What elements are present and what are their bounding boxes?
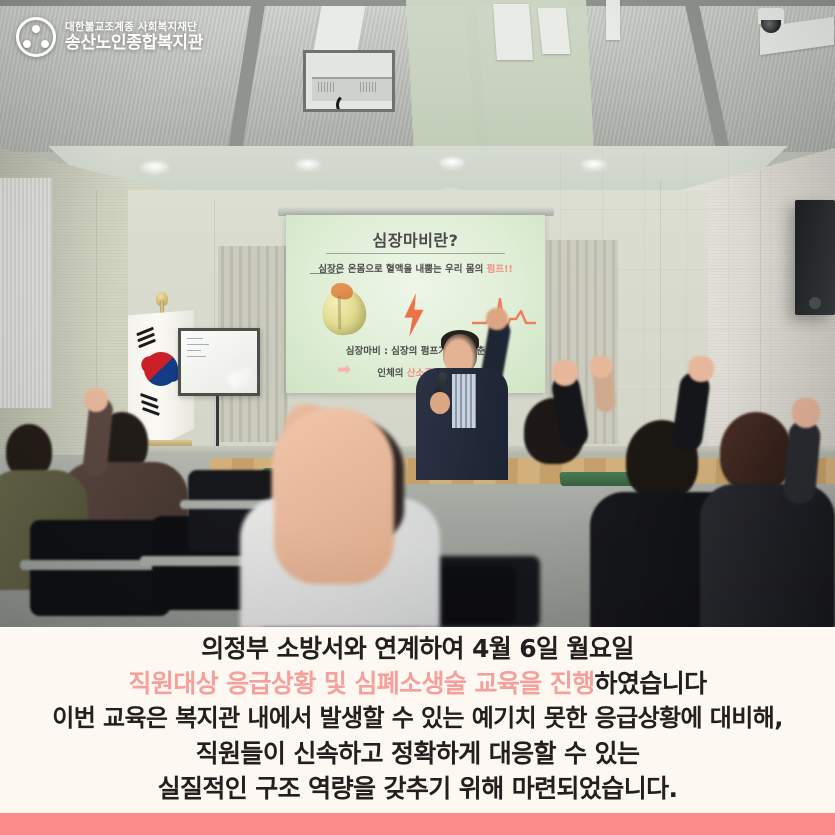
projector-vent-left xyxy=(318,82,336,92)
logo-center-name: 송산노인종합복지관 xyxy=(65,35,203,52)
slide-surface: 심장마비란? 심장은 온몸으로 혈액을 내뿜는 우리 몸의 펌프!! 심장마비 … xyxy=(286,215,545,393)
wall-speaker xyxy=(795,200,835,315)
presenter-shirt xyxy=(452,374,476,428)
bag-on-chair xyxy=(430,566,516,624)
bottom-accent-bar xyxy=(0,813,835,835)
projector-vent-right xyxy=(360,82,378,92)
logo-dot-left xyxy=(23,40,31,48)
ceiling-panel-3 xyxy=(538,8,571,54)
logo-dot-top xyxy=(32,25,40,33)
three-dot-circle-icon xyxy=(16,17,56,57)
audience-fist-1 xyxy=(84,388,108,412)
wall-seam-3 xyxy=(660,180,661,460)
logo-foundation-name: 대한불교조계종 사회복지재단 xyxy=(65,22,203,33)
slide-body-line2-plain: 인체의 xyxy=(377,368,407,379)
dome-security-camera xyxy=(758,8,784,24)
logo-dot-right xyxy=(41,40,49,48)
slide-subtitle-highlight: 펌프!! xyxy=(487,264,513,275)
presenter-hand xyxy=(430,392,450,414)
audience-fist-4 xyxy=(688,356,714,382)
whiteboard xyxy=(178,328,260,396)
caption-line-5: 실질적인 구조 역량을 갖추기 위해 마련되었습니다. xyxy=(0,771,835,806)
caption-line-4: 직원들이 신속하고 정확하게 대응할 수 있는 xyxy=(0,736,835,771)
projector-cable-bottom xyxy=(336,93,362,112)
whiteboard-writing-1 xyxy=(187,338,203,339)
heart-illustration-icon xyxy=(319,286,369,338)
caption-line-2-highlight: 직원대상 응급상황 및 심폐소생술 교육을 진행 xyxy=(128,669,594,698)
downlight-1 xyxy=(142,162,168,173)
caption-line-3: 이번 교육은 복지관 내에서 발생할 수 있는 예기치 못한 응급상황에 대비해… xyxy=(0,701,835,736)
audience-fist-6 xyxy=(590,356,612,378)
caption-line-2: 직원대상 응급상황 및 심폐소생술 교육을 진행하였습니다 xyxy=(0,666,835,701)
whiteboard-writing-3 xyxy=(187,350,201,351)
audience-body-5 xyxy=(700,484,835,627)
slide-subtitle-plain: 심장은 온몸으로 혈액을 내뿜는 우리 몸의 xyxy=(318,264,486,275)
audience-fist-3 xyxy=(552,360,578,386)
audience-fist-5 xyxy=(792,398,820,428)
ceiling-panel-4 xyxy=(606,0,620,40)
whiteboard-glare xyxy=(227,367,257,391)
caption-line-2-plain: 하였습니다 xyxy=(595,669,707,698)
caption-block: 의정부 소방서와 연계하여 4월 6일 월요일 직원대상 응급상황 및 심폐소생… xyxy=(0,627,835,813)
foreground-hand xyxy=(274,408,394,584)
ceiling-panel-2 xyxy=(493,4,533,60)
left-door-panel xyxy=(0,178,53,408)
projector-cable-top xyxy=(324,50,364,77)
organization-logo: 대한불교조계종 사회복지재단 송산노인종합복지관 xyxy=(16,14,203,60)
slide-subtitle: 심장은 온몸으로 혈액을 내뿜는 우리 몸의 펌프!! xyxy=(286,261,545,275)
projection-screen: 심장마비란? 심장은 온몸으로 혈액을 내뿜는 우리 몸의 펌프!! 심장마비 … xyxy=(286,215,545,393)
downlight-3 xyxy=(440,158,464,168)
social-card: 심장마비란? 심장은 온몸으로 혈액을 내뿜는 우리 몸의 펌프!! 심장마비 … xyxy=(0,0,835,835)
slide-title: 심장마비란? xyxy=(286,227,545,251)
whiteboard-writing-2 xyxy=(187,344,209,345)
slide-body-line2: 인체의 산소공급 중 xyxy=(286,365,545,379)
caption-line-1: 의정부 소방서와 연계하여 4월 6일 월요일 xyxy=(0,631,835,666)
audience-head-5 xyxy=(720,412,792,492)
logo-text-block: 대한불교조계종 사회복지재단 송산노인종합복지관 xyxy=(65,22,203,53)
presenter-raised-fist xyxy=(486,308,508,330)
whiteboard-writing-4 xyxy=(187,356,206,357)
ceiling-projector xyxy=(303,50,395,112)
downlight-2 xyxy=(296,160,320,170)
slide-divider xyxy=(326,253,505,254)
wall-seam-2 xyxy=(214,200,215,450)
event-photo: 심장마비란? 심장은 온몸으로 혈액을 내뿜는 우리 몸의 펌프!! 심장마비 … xyxy=(0,0,835,627)
lightning-bolt-icon xyxy=(402,293,426,337)
